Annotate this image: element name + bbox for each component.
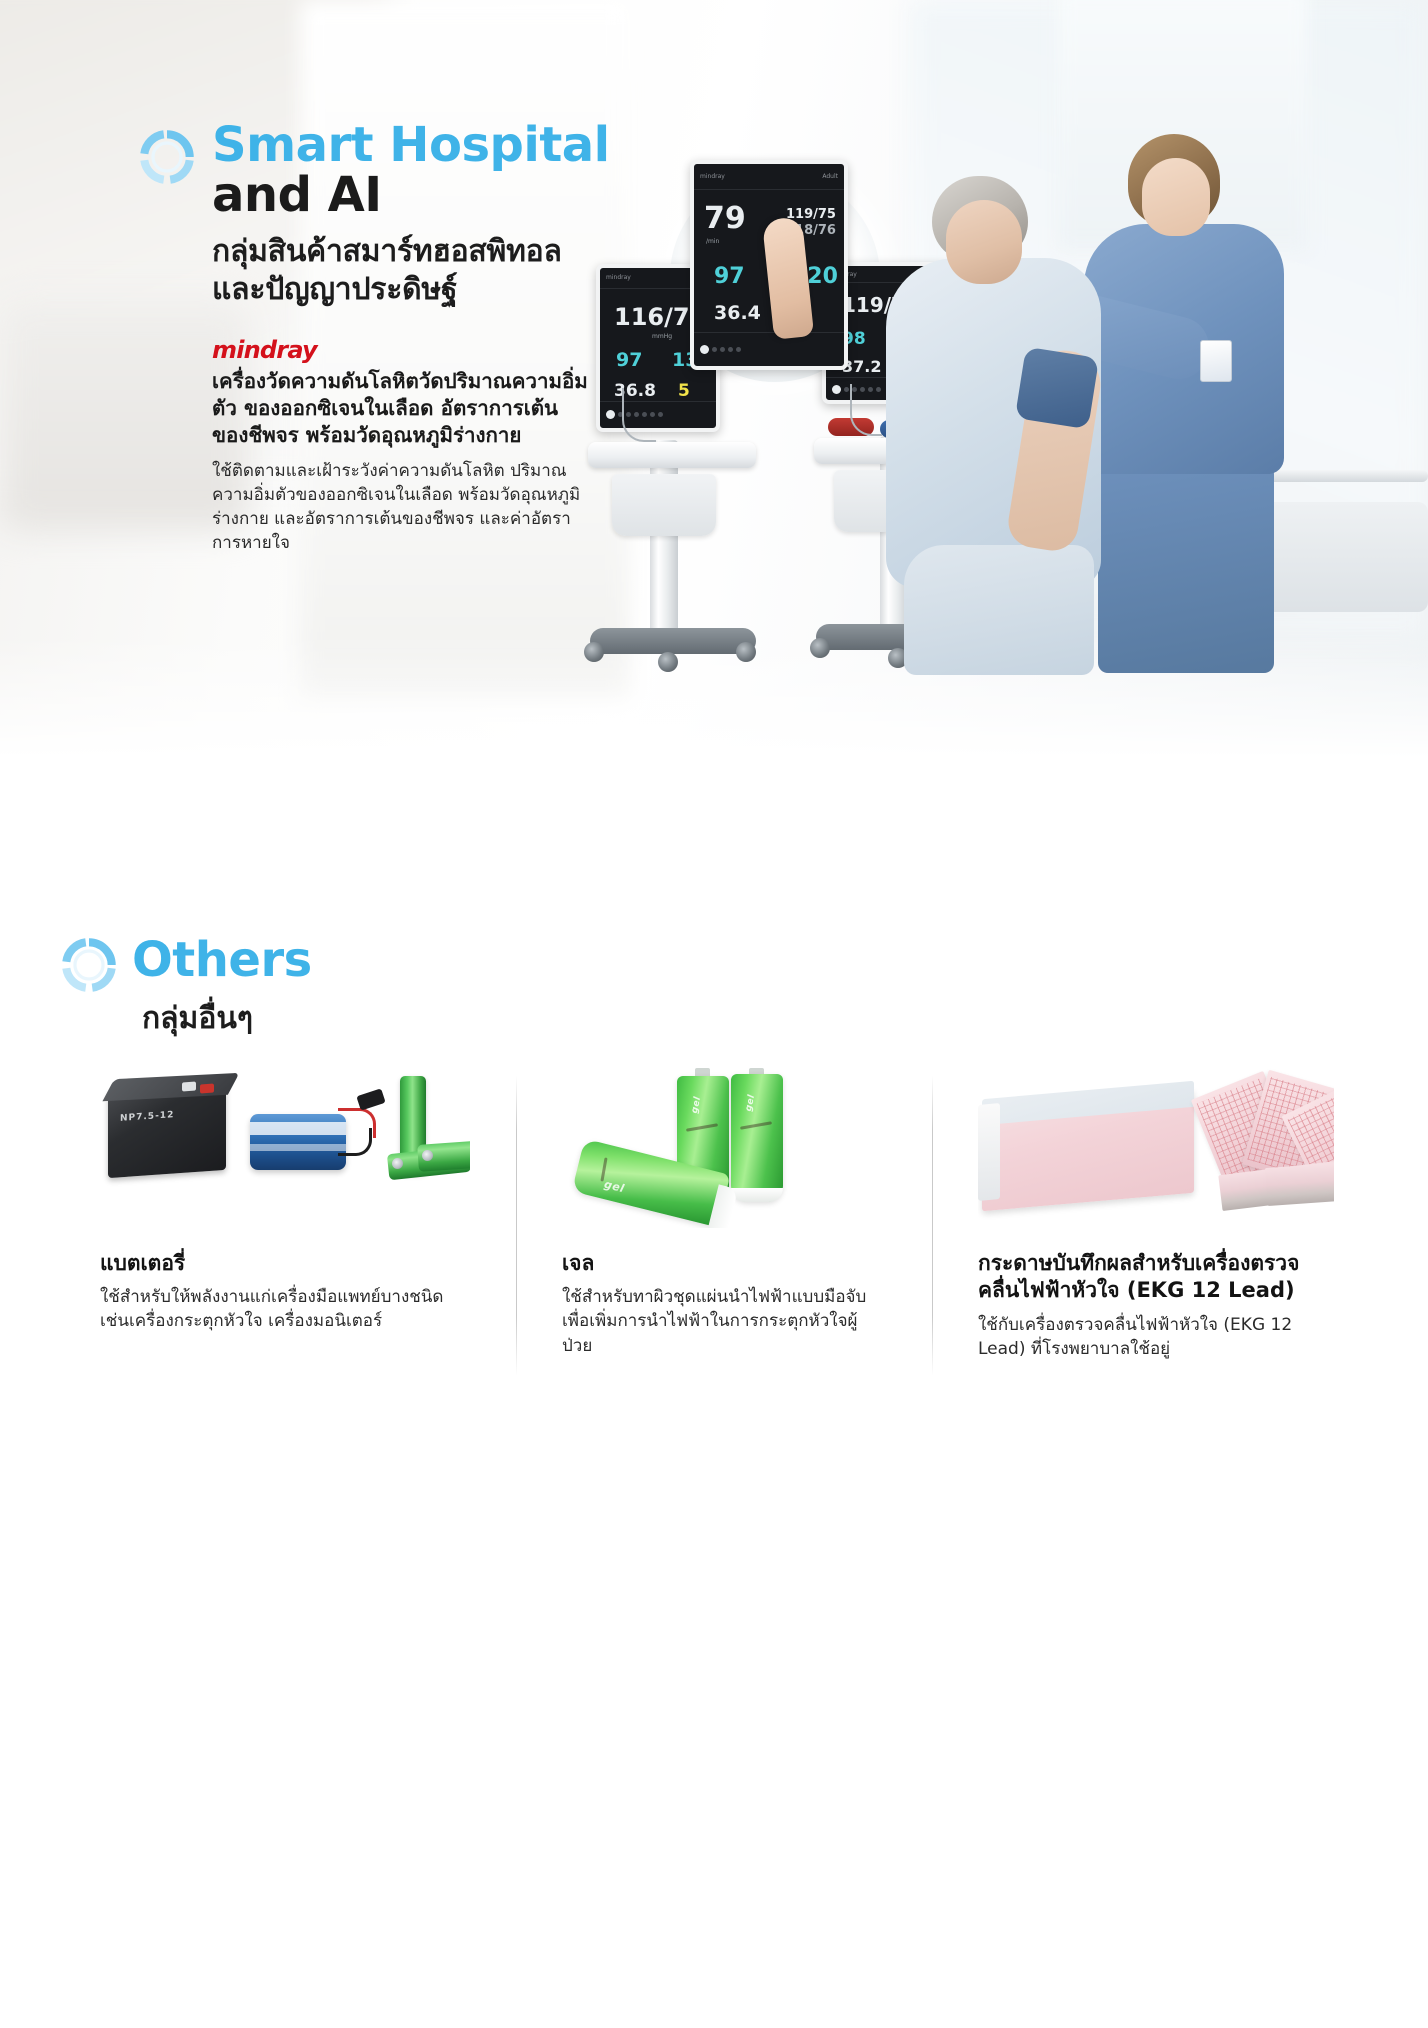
cart-left-caster-2 bbox=[658, 652, 678, 672]
card-desc-ekg-paper: ใช้กับเครื่องตรวจคลื่นไฟฟ้าหัวใจ (EKG 12… bbox=[978, 1313, 1334, 1361]
others-cards: NP7.5-12 แบตเตอรี่ ใช้สำหรับให้พลังงานแก… bbox=[100, 1068, 1380, 1361]
monitor-center-statusbar: mindrayAdult bbox=[694, 164, 844, 190]
gel-tube-seal-2 bbox=[731, 1188, 783, 1202]
nurse-id-badge bbox=[1200, 340, 1232, 382]
battery-pack-label-band bbox=[250, 1122, 346, 1135]
product-card-battery: NP7.5-12 แบตเตอรี่ ใช้สำหรับให้พลังงานแก… bbox=[100, 1068, 516, 1361]
monitor-center-home-button[interactable] bbox=[700, 345, 709, 354]
product-card-ekg-paper: กระดาษบันทึกผลสำหรับเครื่องตรวจคลื่นไฟฟ้… bbox=[932, 1068, 1380, 1361]
hero-product-name: เครื่องวัดความดันโลหิตวัดปริมาณความอิ่มต… bbox=[212, 368, 592, 449]
sla-battery-terminal-negative bbox=[182, 1082, 196, 1092]
bp-cuff-on-arm bbox=[1015, 347, 1099, 430]
monitor-center-key-3[interactable] bbox=[728, 347, 733, 352]
mindray-brand-logo: mindray bbox=[212, 336, 640, 364]
monitor-center-key-4[interactable] bbox=[736, 347, 741, 352]
battery-connector bbox=[356, 1088, 385, 1110]
gel-tube-upright-2 bbox=[731, 1074, 783, 1202]
hero-product-description: ใช้ติดตามและเฝ้าระวังค่าความดันโลหิต ปริ… bbox=[212, 459, 592, 556]
card-desc-gel: ใช้สำหรับทาผิวชุดแผ่นนำไฟฟ้าแบบมือจับเพื… bbox=[562, 1285, 886, 1357]
monitor-center-nibp: 119/75 bbox=[786, 208, 836, 221]
cart-right-caster-1 bbox=[810, 638, 830, 658]
monitor-center-controls[interactable] bbox=[694, 332, 844, 366]
others-subtitle: กลุ่มอื่นๆ bbox=[142, 1000, 682, 1038]
hero-subtitle-line2: และปัญญาประดิษฐ์ bbox=[212, 271, 640, 309]
patient-face bbox=[946, 200, 1022, 284]
hero-photo: mindrayAdult 116/79 mmHg 97 130 36.8 5 bbox=[560, 110, 1428, 670]
card-divider-1 bbox=[516, 1076, 517, 1376]
cart-left-caster-1 bbox=[584, 642, 604, 662]
product-card-gel: gel gel gel เจล ใช้สำหรับทาผิวชุดแผ่นนำไ… bbox=[516, 1068, 932, 1361]
ekg-paper-image bbox=[978, 1068, 1334, 1228]
card-title-ekg-paper: กระดาษบันทึกผลสำหรับเครื่องตรวจคลื่นไฟฟ้… bbox=[978, 1250, 1334, 1305]
hero-text-block: Smart Hospital and AI กลุ่มสินค้าสมาร์ทฮ… bbox=[140, 120, 640, 555]
monitor-center-key-2[interactable] bbox=[720, 347, 725, 352]
monitor-center-key-1[interactable] bbox=[712, 347, 717, 352]
others-title-row: Others bbox=[62, 928, 682, 992]
nurse-face bbox=[1142, 158, 1210, 236]
card-title-battery: แบตเตอรี่ bbox=[100, 1250, 470, 1277]
cart-left-pole bbox=[650, 440, 678, 640]
patient-monitor-center[interactable]: mindrayAdult 79 /min 119/75 118/76 97 12… bbox=[690, 160, 848, 370]
battery-products-image: NP7.5-12 bbox=[100, 1068, 470, 1228]
monitor-center-spo2: 97 bbox=[714, 266, 745, 288]
hero-section: mindrayAdult 116/79 mmHg 97 130 36.8 5 bbox=[0, 0, 1428, 785]
card-desc-battery: ใช้สำหรับให้พลังงานแก่เครื่องมือแพทย์บาง… bbox=[100, 1285, 470, 1333]
cart-left-base bbox=[590, 628, 756, 654]
monitor-center-temp: 36.4 bbox=[714, 304, 761, 323]
monitor-center-hr: 79 bbox=[704, 204, 746, 234]
sla-battery-terminal-positive bbox=[200, 1084, 214, 1094]
gel-tubes-image: gel gel gel bbox=[562, 1068, 886, 1228]
monitor-center-hr-unit: /min bbox=[706, 238, 719, 245]
lithium-cell-cap-2 bbox=[422, 1150, 433, 1161]
ekg-paper-pad-edge bbox=[978, 1103, 1000, 1201]
hero-title-line1: Smart Hospital bbox=[212, 120, 610, 170]
lithium-cell-cap-1 bbox=[392, 1158, 403, 1169]
monitor-center-readouts: 79 /min 119/75 118/76 97 120 36.4 bbox=[694, 190, 844, 331]
battery-pack-label-band-2 bbox=[250, 1144, 346, 1151]
hero-title-row: Smart Hospital and AI bbox=[140, 120, 640, 221]
cart-left-caster-3 bbox=[736, 642, 756, 662]
card-title-gel: เจล bbox=[562, 1250, 886, 1277]
others-title: Others bbox=[132, 936, 312, 984]
ekg-paper-stack-2 bbox=[1265, 1160, 1334, 1206]
hero-title-line2: and AI bbox=[212, 170, 610, 220]
hero-subtitle-line1: กลุ่มสินค้าสมาร์ทฮอสพิทอล bbox=[212, 233, 640, 271]
circular-segments-logo-icon bbox=[140, 130, 194, 184]
patient-legs bbox=[904, 545, 1094, 675]
battery-wire-black bbox=[338, 1128, 372, 1156]
hero-title: Smart Hospital and AI bbox=[212, 120, 610, 221]
circular-segments-logo-icon bbox=[62, 938, 116, 992]
others-header: Others กลุ่มอื่นๆ bbox=[62, 928, 682, 1038]
card-divider-2 bbox=[932, 1076, 933, 1376]
catalog-page: mindrayAdult 116/79 mmHg 97 130 36.8 5 bbox=[0, 0, 1428, 2028]
hero-subtitle: กลุ่มสินค้าสมาร์ทฮอสพิทอล และปัญญาประดิษ… bbox=[212, 233, 640, 310]
patient-figure bbox=[860, 140, 1150, 670]
